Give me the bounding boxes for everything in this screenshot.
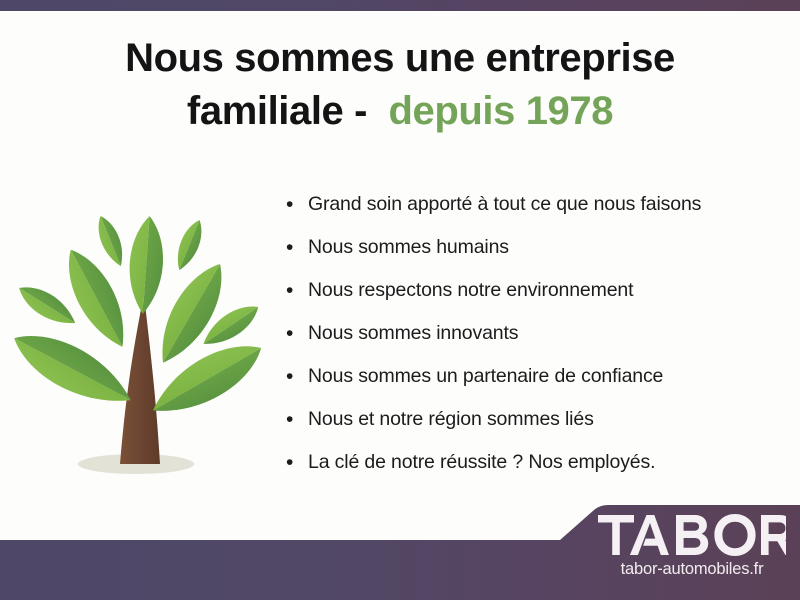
bullet-marker-icon: • bbox=[286, 364, 308, 389]
leaf-lower-right bbox=[143, 330, 264, 428]
list-item: • Nous sommes un partenaire de confiance bbox=[286, 364, 756, 407]
page-title: Nous sommes une entreprise familiale - d… bbox=[0, 32, 800, 138]
list-item-label: Nous sommes un partenaire de confiance bbox=[308, 364, 663, 389]
list-item-label: Nous et notre région sommes liés bbox=[308, 407, 594, 432]
headline-line-2-plain: familiale - bbox=[187, 89, 389, 133]
leaf-top-center bbox=[126, 215, 166, 315]
list-item-label: Nous sommes humains bbox=[308, 235, 509, 260]
leaf-left-small bbox=[14, 278, 81, 332]
bullet-marker-icon: • bbox=[286, 450, 308, 475]
list-item-label: Nous respectons notre environnement bbox=[308, 278, 633, 303]
list-item-label: Grand soin apporté à tout ce que nous fa… bbox=[308, 192, 701, 217]
bullet-marker-icon: • bbox=[286, 407, 308, 432]
headline-line-1: Nous sommes une entreprise bbox=[0, 32, 800, 85]
list-item: • Grand soin apporté à tout ce que nous … bbox=[286, 192, 756, 235]
list-item: • Nous respectons notre environnement bbox=[286, 278, 756, 321]
bullet-marker-icon: • bbox=[286, 321, 308, 346]
slide-canvas: Nous sommes une entreprise familiale - d… bbox=[0, 0, 800, 600]
bullet-marker-icon: • bbox=[286, 192, 308, 217]
list-item: • Nous et notre région sommes liés bbox=[286, 407, 756, 450]
headline-line-2: familiale - depuis 1978 bbox=[0, 85, 800, 138]
value-proposition-list: • Grand soin apporté à tout ce que nous … bbox=[286, 192, 756, 493]
tree-illustration bbox=[14, 196, 264, 486]
bullet-marker-icon: • bbox=[286, 278, 308, 303]
list-item-label: La clé de notre réussite ? Nos employés. bbox=[308, 450, 655, 475]
tree-trunk bbox=[120, 304, 160, 464]
headline-accent-text: depuis 1978 bbox=[388, 89, 613, 133]
bullet-marker-icon: • bbox=[286, 235, 308, 260]
tabor-wordmark-icon bbox=[596, 513, 788, 557]
leaf-top-right-small bbox=[171, 217, 208, 274]
brand-url: tabor-automobiles.fr bbox=[596, 559, 788, 579]
leaf-top-left-small bbox=[92, 213, 129, 270]
list-item: • Nous sommes innovants bbox=[286, 321, 756, 364]
list-item-label: Nous sommes innovants bbox=[308, 321, 518, 346]
brand-logo[interactable]: tabor-automobiles.fr bbox=[596, 513, 788, 587]
list-item: • La clé de notre réussite ? Nos employé… bbox=[286, 450, 756, 493]
top-accent-bar bbox=[0, 0, 800, 11]
list-item: • Nous sommes humains bbox=[286, 235, 756, 278]
leaf-upper-left bbox=[55, 241, 138, 355]
